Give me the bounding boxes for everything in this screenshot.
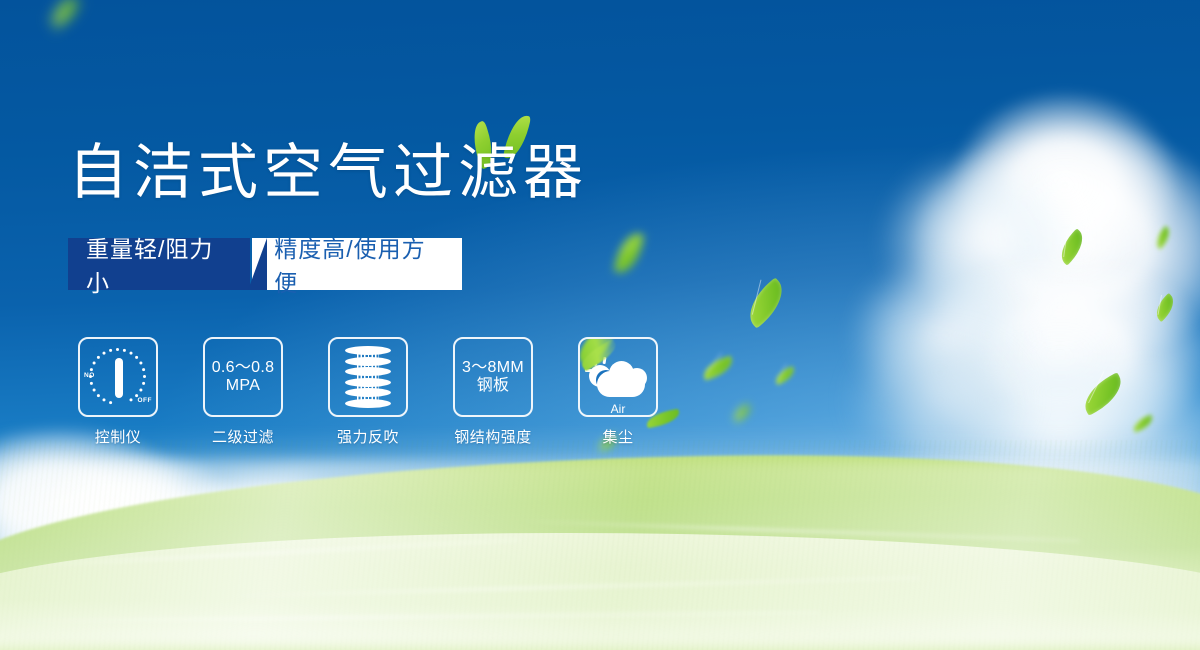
floating-leaf-1 xyxy=(46,0,83,28)
subtitle-right: 精度高/使用方便 xyxy=(252,238,462,290)
floating-leaf-6 xyxy=(731,404,753,423)
feature-item-filtration[interactable]: 0.6～0.8 MPA 二级过滤 xyxy=(203,337,283,447)
floating-leaf-5 xyxy=(773,366,798,385)
floating-leaf-10 xyxy=(1077,372,1129,416)
pressure-text-icon: 0.6～0.8 MPA xyxy=(203,337,283,417)
gauge-label-off: OFF xyxy=(138,397,153,404)
filter-cartridge-icon xyxy=(328,337,408,417)
feature-label-steel: 钢结构强度 xyxy=(454,426,532,447)
feature-item-backblow[interactable]: 强力反吹 xyxy=(328,337,408,447)
floating-leaf-7 xyxy=(1054,228,1090,265)
feature-item-dust[interactable]: Air 集尘 xyxy=(578,337,658,447)
feature-list: NO OFF 控制仪 0.6～0.8 MPA 二级过滤 xyxy=(78,337,658,447)
feature-label-controller: 控制仪 xyxy=(95,426,142,447)
pressure-value-line1: 0.6～0.8 xyxy=(212,359,275,377)
subtitle-bar: 重量轻/阻力小 精度高/使用方便 xyxy=(68,238,462,290)
gauge-label-no: NO xyxy=(84,372,95,379)
feature-label-dust: 集尘 xyxy=(602,426,633,447)
floating-leaf-4 xyxy=(700,355,735,380)
cloud-right-4 xyxy=(910,250,1200,460)
cloud-right-2 xyxy=(950,90,1180,280)
air-label: Air xyxy=(587,402,649,416)
cloud-right-5 xyxy=(850,255,1040,415)
cloud-air-icon: Air xyxy=(578,337,658,417)
feature-label-filtration: 二级过滤 xyxy=(212,426,274,447)
page-title: 自洁式空气过滤器 xyxy=(68,143,588,203)
cloud-shape: Air xyxy=(587,357,649,401)
feature-item-steel[interactable]: 3～8MM 钢板 钢结构强度 xyxy=(453,337,533,447)
gauge-icon: NO OFF xyxy=(78,337,158,417)
product-banner: 自洁式空气过滤器 重量轻/阻力小 精度高/使用方便 xyxy=(0,0,1200,650)
steel-value-line1: 3～8MM xyxy=(462,359,524,377)
pressure-value-line2: MPA xyxy=(226,377,260,395)
floating-leaf-3 xyxy=(739,277,792,328)
steel-value-line2: 钢板 xyxy=(477,377,510,395)
steel-plate-text-icon: 3～8MM 钢板 xyxy=(453,337,533,417)
feature-item-controller[interactable]: NO OFF 控制仪 xyxy=(78,337,158,447)
filter-cartridge-shape xyxy=(345,346,391,408)
grass-highlight xyxy=(0,460,1200,650)
feature-label-backblow: 强力反吹 xyxy=(337,426,399,447)
gauge-dial: NO OFF xyxy=(85,346,151,408)
floating-leaf-2 xyxy=(614,230,644,276)
subtitle-left: 重量轻/阻力小 xyxy=(68,238,250,290)
cloud-right-3 xyxy=(880,150,1080,330)
gauge-needle xyxy=(115,358,123,398)
floating-leaf-8 xyxy=(1152,225,1174,249)
floating-leaf-9 xyxy=(1151,293,1180,322)
cloud-right-1 xyxy=(910,120,1200,370)
